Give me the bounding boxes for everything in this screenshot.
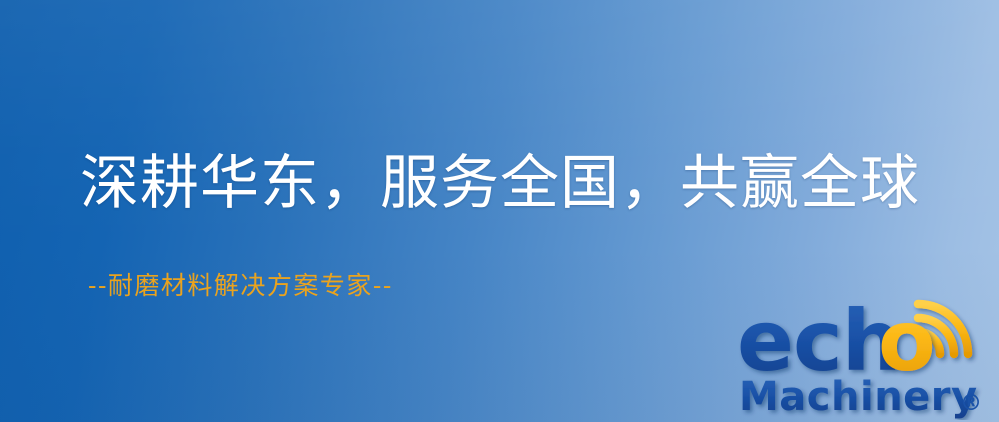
banner-subtitle: --耐磨材料解决方案专家-- [88, 266, 393, 302]
registered-trademark-icon: ® [960, 391, 982, 416]
hero-banner: 深耕华东，服务全国，共赢全球 --耐磨材料解决方案专家-- [0, 0, 999, 422]
echo-machinery-logo: ech o Machinery ® [735, 288, 993, 420]
logo-tagline: Machinery [739, 374, 978, 420]
banner-headline: 深耕华东，服务全国，共赢全球 [80, 152, 920, 214]
